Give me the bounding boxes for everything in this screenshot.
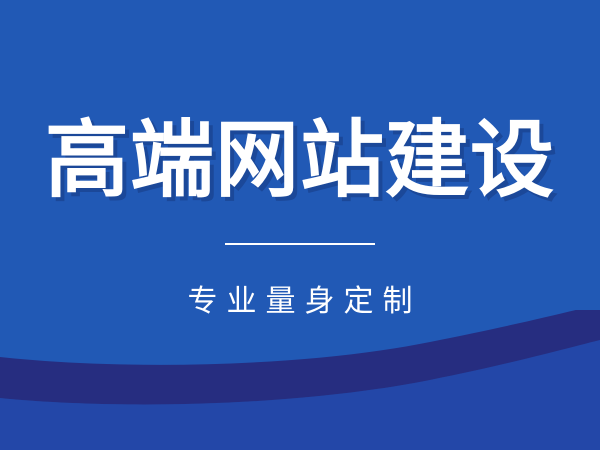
- subtitle-text: 专业量身定制: [179, 287, 422, 317]
- promo-banner: 高端网站建设 专业量身定制: [0, 0, 600, 450]
- headline-text: 高端网站建设: [45, 118, 555, 202]
- divider-rule: [225, 243, 375, 245]
- banner-content: 高端网站建设 专业量身定制: [0, 0, 600, 450]
